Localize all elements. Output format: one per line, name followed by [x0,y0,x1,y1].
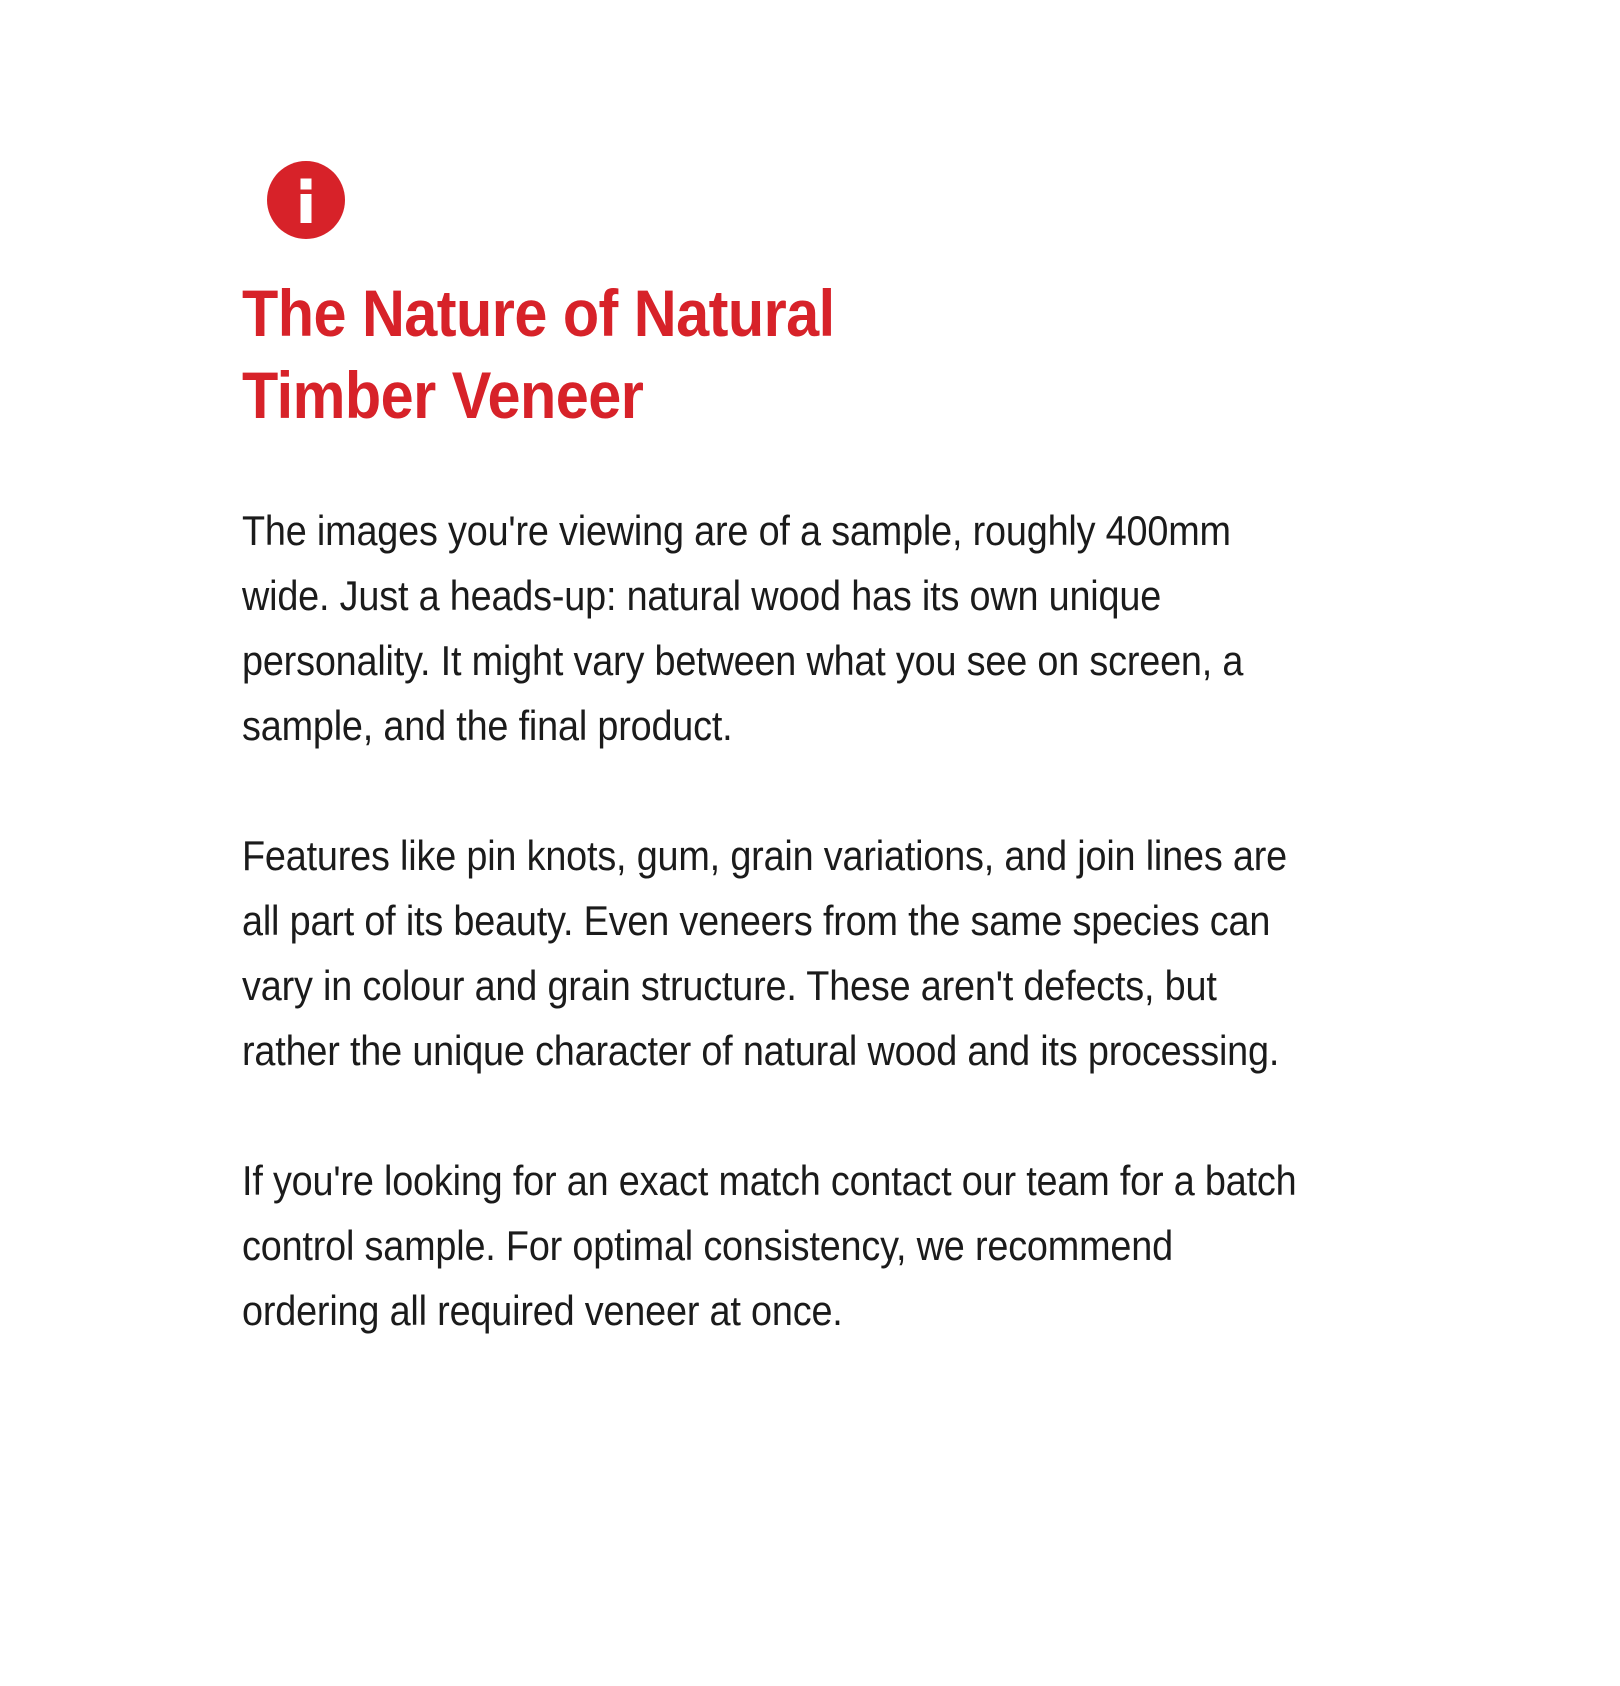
content-container: The Nature of Natural Timber Veneer The … [242,160,1302,1343]
paragraph-exact-match: If you're looking for an exact match con… [242,1148,1300,1343]
paragraph-spacer [242,758,1300,823]
body-copy: The images you're viewing are of a sampl… [242,498,1300,1343]
page-title: The Nature of Natural Timber Veneer [242,272,1196,436]
paragraph-natural-features: Features like pin knots, gum, grain vari… [242,823,1300,1083]
info-panel: The Nature of Natural Timber Veneer The … [0,0,1620,1686]
paragraph-spacer [242,1083,1300,1148]
info-icon [266,160,346,240]
info-icon-container [266,160,346,240]
paragraph-sample-description: The images you're viewing are of a sampl… [242,498,1300,758]
